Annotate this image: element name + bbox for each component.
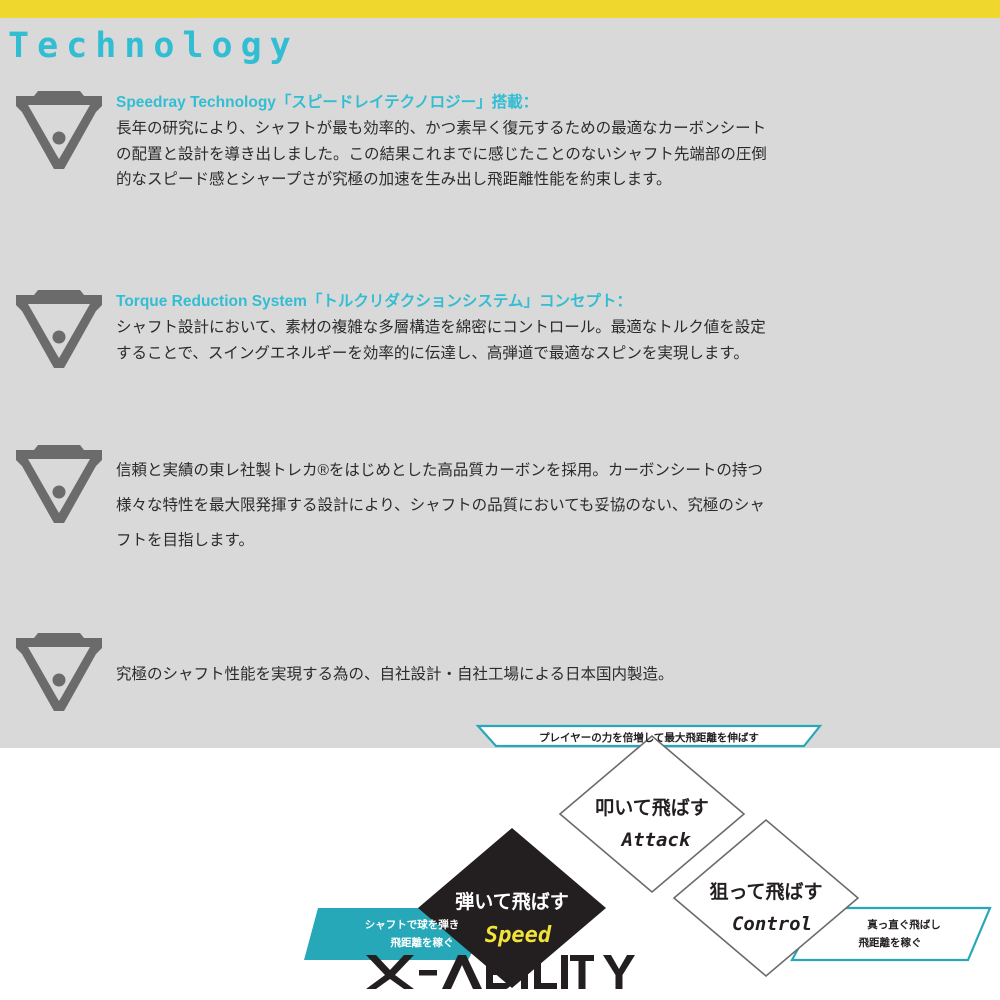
feature-body-line: 信頼と実績の東レ社製トレカ®をはじめとした高品質カーボンを採用。カーボンシートの… xyxy=(116,454,988,489)
feature-text: Torque Reduction System「トルクリダクションシステム」コン… xyxy=(116,285,988,366)
diamond-control-en: Control xyxy=(732,913,812,935)
feature-row-made-in-japan: 究極のシャフト性能を実現する為の、自社設計・自社工場による日本国内製造。 xyxy=(12,628,988,714)
feature-text: 信頼と実績の東レ社製トレカ®をはじめとした高品質カーボンを採用。カーボンシートの… xyxy=(116,440,988,559)
diamond-speed-jp: 弾いて飛ばす xyxy=(455,890,568,913)
triangle-dot-icon xyxy=(12,442,106,526)
technology-page: Technology Speedray Technology「スピードレイテクノ… xyxy=(0,0,1000,1000)
brand-logo-wrap xyxy=(0,952,1000,997)
triangle-dot-icon xyxy=(12,630,106,714)
feature-body: 信頼と実績の東レ社製トレカ®をはじめとした高品質カーボンを採用。カーボンシートの… xyxy=(116,454,988,559)
feature-body-line: 的なスピード感とシャープさが究極の加速を生み出し飛距離性能を約束します。 xyxy=(116,167,988,192)
feature-body-line: の配置と設計を導き出しました。この結果これまでに感じたことのないシャフト先端部の… xyxy=(116,142,988,167)
x-ability-logo-y xyxy=(602,952,636,992)
feature-body-line: フトを目指します。 xyxy=(116,524,988,559)
top-accent-bar xyxy=(0,0,1000,18)
diamond-attack-jp: 叩いて飛ばす xyxy=(595,797,708,819)
diamond-control-jp: 狙って飛ばす xyxy=(709,881,822,903)
feature-body: 長年の研究により、シャフトが最も効率的、かつ素早く復元するための最適なカーボンシ… xyxy=(116,116,988,191)
diagram-left-banner-line-1: シャフトで球を弾き xyxy=(365,918,460,931)
feature-row-torque-reduction: Torque Reduction System「トルクリダクションシステム」コン… xyxy=(12,285,988,371)
feature-text: Speedray Technology「スピードレイテクノロジー」搭載： 長年の… xyxy=(116,88,988,192)
diagram-right-banner-line-2: 飛距離を稼ぐ xyxy=(858,936,922,949)
feature-body-line: シャフト設計において、素材の複雑な多層構造を綿密にコントロール。最適なトルク値を… xyxy=(116,315,988,340)
feature-body-line: することで、スイングエネルギーを効率的に伝達し、高弾道で最適なスピンを実現します… xyxy=(116,341,988,366)
triangle-dot-icon xyxy=(12,88,106,172)
feature-row-speedray: Speedray Technology「スピードレイテクノロジー」搭載： 長年の… xyxy=(12,88,988,192)
page-title: Technology xyxy=(8,26,299,66)
diamond-attack-en: Attack xyxy=(620,829,692,851)
diagram-top-banner-label: プレイヤーの力を倍増して最大飛距離を伸ばす xyxy=(539,731,759,744)
feature-heading: Torque Reduction System「トルクリダクションシステム」コン… xyxy=(116,291,988,313)
feature-body-line: 究極のシャフト性能を実現する為の、自社設計・自社工場による日本国内製造。 xyxy=(116,662,988,684)
diagram-left-banner-line-2: 飛距離を稼ぐ xyxy=(390,936,454,949)
feature-body: シャフト設計において、素材の複雑な多層構造を綿密にコントロール。最適なトルク値を… xyxy=(116,315,988,365)
feature-row-carbon: 信頼と実績の東レ社製トレカ®をはじめとした高品質カーボンを採用。カーボンシートの… xyxy=(12,440,988,559)
triangle-dot-icon xyxy=(12,287,106,371)
diamond-speed-en: Speed xyxy=(485,923,552,948)
feature-body-line: 長年の研究により、シャフトが最も効率的、かつ素早く復元するための最適なカーボンシ… xyxy=(116,116,988,141)
feature-body-line: 様々な特性を最大限発揮する設計により、シャフトの品質においても妥協のない、究極の… xyxy=(116,489,988,524)
feature-heading: Speedray Technology「スピードレイテクノロジー」搭載： xyxy=(116,92,988,114)
feature-text: 究極のシャフト性能を実現する為の、自社設計・自社工場による日本国内製造。 xyxy=(116,628,988,684)
x-ability-logo xyxy=(364,952,600,992)
diagram-right-banner-line-1: 真っ直ぐ飛ばし xyxy=(867,918,941,931)
